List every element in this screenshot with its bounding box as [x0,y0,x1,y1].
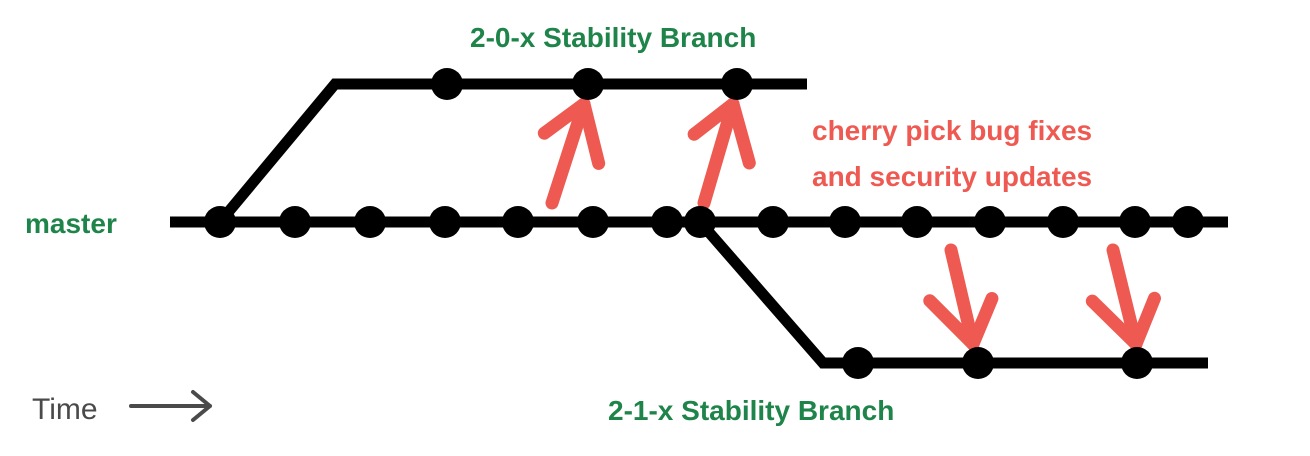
commit-dot[interactable] [901,206,933,238]
commit-dot[interactable] [1172,206,1204,238]
commit-dot[interactable] [962,347,994,379]
commit-dot[interactable] [502,206,534,238]
commit-dot[interactable] [1119,206,1151,238]
cherry-pick-arrow [1092,250,1154,344]
commit-dot[interactable] [829,206,861,238]
commit-dot[interactable] [572,68,604,100]
commit-dot[interactable] [204,206,236,238]
cherry-pick-annotation-line2: and security updates [812,161,1092,192]
time-axis-label: Time [32,393,98,426]
commit-dot[interactable] [757,206,789,238]
cherry-pick-annotation-line1: cherry pick bug fixes [812,115,1092,146]
commit-dot[interactable] [279,206,311,238]
arrow-head-barb [1136,298,1154,344]
commit-dot[interactable] [1047,206,1079,238]
commit-dot[interactable] [354,206,386,238]
cherry-pick-arrow [544,104,598,203]
arrow-head-barb [584,104,599,163]
cherry-pick-arrow [694,104,749,203]
arrow-head-barb [973,298,992,344]
master-branch-label: master [25,208,117,239]
arrow-head-barb [733,104,749,163]
commit-dot[interactable] [721,68,753,100]
commit-dot[interactable] [431,68,463,100]
bottom-branch-label: 2-1-x Stability Branch [608,395,894,426]
cherry-pick-arrow [930,250,992,344]
time-arrow-icon [131,392,210,420]
commit-dot[interactable] [651,206,683,238]
commit-dot[interactable] [684,206,716,238]
git-branching-diagram: 2-0-x Stability Branch 2-1-x Stability B… [0,0,1310,456]
top-branch-label: 2-0-x Stability Branch [470,22,756,53]
time-axis-group: Time [32,392,210,426]
commit-dot[interactable] [842,347,874,379]
diagram-canvas: 2-0-x Stability Branch 2-1-x Stability B… [0,0,1310,456]
commit-dot[interactable] [577,206,609,238]
commit-dot[interactable] [974,206,1006,238]
commit-dot[interactable] [429,206,461,238]
commit-dot[interactable] [1121,347,1153,379]
